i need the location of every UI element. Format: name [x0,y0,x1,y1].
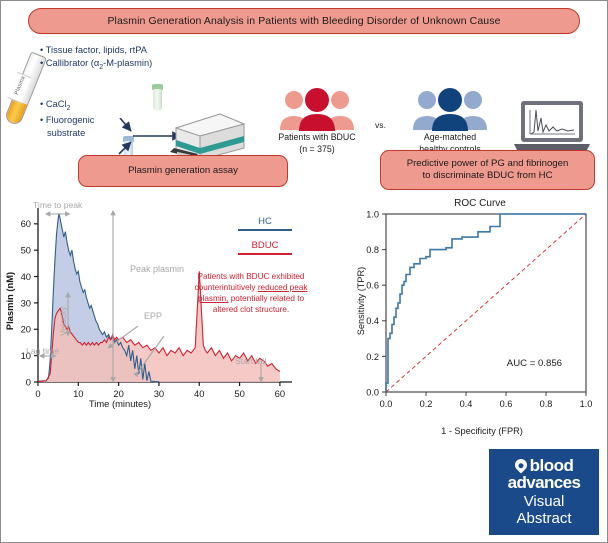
svg-text:0.2: 0.2 [420,399,433,409]
pg-annot-peak-plasmin: Peak plasmin [130,264,184,274]
section-banner-predictive-line1: Predictive power of PG and fibrinogen [407,158,569,169]
svg-text:0.0: 0.0 [380,399,393,409]
svg-text:0.6: 0.6 [500,399,513,409]
section-banner-predictive: Predictive power of PG and fibrinogen to… [380,150,595,190]
svg-text:0.6: 0.6 [366,281,379,291]
roc-plot: 0.00.20.40.60.81.0 0.00.20.40.60.81.0 AU… [352,196,608,439]
cohort-hc-label-1: Age-matched [395,132,505,144]
poster-title: Plasmin Generation Analysis in Patients … [107,15,500,27]
svg-text:10: 10 [73,388,83,399]
logo-brand-1: blood [530,457,574,474]
pg-x-axis-label: Time (minutes) [89,398,151,409]
svg-text:0: 0 [35,388,40,399]
svg-text:1.0: 1.0 [580,399,593,409]
pg-annot-time-to-peak: Time to peak [33,200,83,210]
reagent-item-4: • Fluorogenic [40,114,94,127]
svg-text:40: 40 [194,388,204,399]
cohort-vs-label: vs. [375,120,386,130]
blood-drop-icon [512,457,529,474]
plasma-tube-label: Plasma [14,80,25,96]
svg-text:30: 30 [154,388,164,399]
logo-line-3: Visual [524,493,565,510]
pg-annot-start-tail: Start tail [235,356,267,366]
pg-legend-hc-swatch [238,229,292,231]
svg-text:60: 60 [275,388,285,399]
cohort-bduc-n: (n = 375) [262,144,372,156]
pg-legend-bduc-swatch [238,253,292,255]
roc-title: ROC Curve [352,198,608,209]
svg-text:0.8: 0.8 [366,245,379,255]
roc-auc-label: AUC = 0.856 [507,358,562,369]
svg-text:0.4: 0.4 [460,399,473,409]
svg-text:40: 40 [21,271,31,282]
reagent-list-bottom: • CaCl2 • Fluorogenic substrate [40,98,94,141]
section-banner-assay-label: Plasmin generation assay [128,165,238,177]
plasmin-generation-chart: 0102030405060 0102030405060 Time to peak… [0,196,320,436]
reagent-item-3: • CaCl2 [40,98,94,114]
svg-text:0.0: 0.0 [366,387,379,397]
pg-annot-lag-time: Lag time [26,346,59,356]
section-banner-predictive-line2: to discriminate BDUC from HC [422,170,552,181]
svg-text:0.2: 0.2 [366,352,379,362]
roc-y-axis-label: Sensitivity (TPR) [356,267,366,335]
reagent-item-5: substrate [40,127,94,140]
poster-title-banner: Plasmin Generation Analysis in Patients … [28,8,580,34]
cohort-bduc-label: Patients with BDUC [262,132,372,144]
reagent-item-2: • Callibrator (α2-M-plasmin) [40,57,152,73]
svg-text:0.8: 0.8 [540,399,553,409]
blood-advances-logo: blood advances Visual Abstract [489,449,599,535]
svg-text:50: 50 [21,245,31,256]
svg-text:50: 50 [234,388,244,399]
methods-row: Plasma • Tissue factor, lipids, rtPA • C… [0,40,608,145]
pg-conclusion-text: Patients with BDUC exhibited counterintu… [186,272,316,316]
reagent-item-1: • Tissue factor, lipids, rtPA [40,44,152,57]
pg-legend-hc-label: HC [230,216,300,229]
pg-legend: HC BDUC [230,216,300,255]
roc-chart: ROC Curve 0.00.20.40.60.81.0 0.00.20.40.… [352,196,608,441]
roc-x-axis-label: 1 - Specificity (FPR) [441,426,523,436]
green-microtube-icon [152,84,163,112]
logo-line-4: Abstract [516,510,571,527]
reagent-list-top: • Tissue factor, lipids, rtPA • Callibra… [40,44,152,73]
svg-text:0.4: 0.4 [366,316,379,326]
svg-text:30: 30 [21,297,31,308]
hc-people-icon [407,86,493,132]
svg-text:60: 60 [21,218,31,229]
svg-text:1.0: 1.0 [366,209,379,219]
pg-annot-epp: EPP [144,311,162,321]
logo-brand-2: advances [508,474,581,492]
cohort-bduc: Patients with BDUC (n = 375) [262,84,372,156]
pg-annot-velocity: Velocity [58,306,68,336]
bduc-people-icon [274,86,360,132]
pg-y-axis-label: Plasmin (nM) [4,272,15,330]
svg-text:20: 20 [21,324,31,335]
pg-legend-bduc-label: BDUC [230,240,300,253]
svg-text:0: 0 [26,376,31,387]
section-banner-assay: Plasmin generation assay [78,155,288,187]
